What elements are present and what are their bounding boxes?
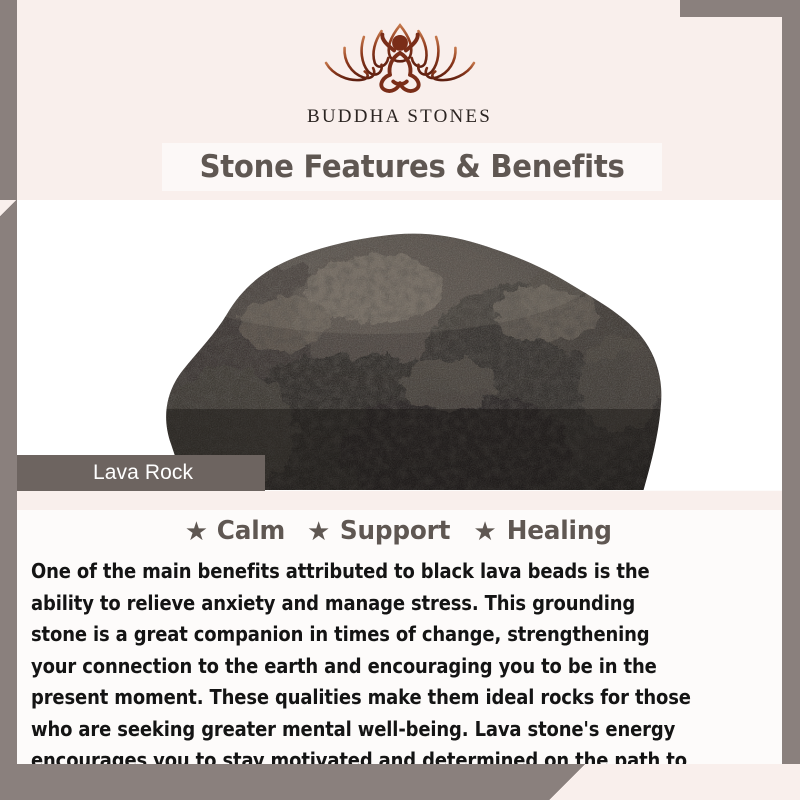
benefits-row: ★ Calm ★ Support ★ Healing xyxy=(17,516,782,546)
benefit-item-support: ★ Support xyxy=(307,516,453,546)
brand-logo: BUDDHA STONES xyxy=(17,14,782,128)
benefit-item-calm: ★ Calm xyxy=(185,516,287,546)
frame-bottom-cream xyxy=(585,764,800,800)
lava-rock-photo xyxy=(75,200,725,490)
frame-right xyxy=(782,0,800,800)
star-icon: ★ xyxy=(307,518,330,544)
frame-left-bevel xyxy=(0,200,17,217)
section-divider xyxy=(17,491,782,510)
product-image xyxy=(17,200,782,490)
brand-name: BUDDHA STONES xyxy=(307,106,492,128)
star-icon: ★ xyxy=(473,518,496,544)
star-icon: ★ xyxy=(185,518,208,544)
image-caption-text: Lava Rock xyxy=(93,461,193,485)
benefit-label: Healing xyxy=(506,516,611,546)
description-paragraph: One of the main benefits attributed to b… xyxy=(31,556,692,764)
benefit-label: Support xyxy=(340,516,450,546)
lotus-meditation-icon xyxy=(316,14,484,102)
image-caption-banner: Lava Rock xyxy=(17,455,265,491)
frame-bottom-wedge xyxy=(549,764,585,800)
frame-left xyxy=(0,200,17,764)
title-row: Stone Features & Benefits xyxy=(17,143,782,193)
benefit-item-healing: ★ Healing xyxy=(473,516,614,546)
title-banner: Stone Features & Benefits xyxy=(162,143,662,191)
benefit-label: Calm xyxy=(217,516,285,546)
page-title: Stone Features & Benefits xyxy=(200,149,625,185)
infographic-card: BUDDHA STONES Stone Features & Benefits xyxy=(17,0,782,764)
